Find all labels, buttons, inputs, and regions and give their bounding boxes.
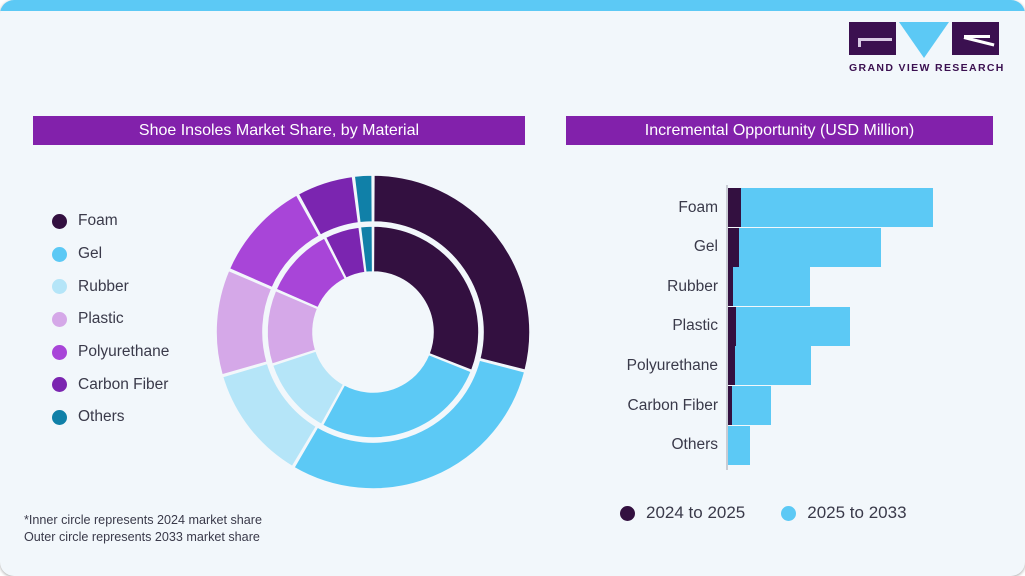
bar-chart-category-label: Rubber: [592, 278, 718, 296]
donut-legend-label: Polyurethane: [78, 343, 169, 361]
bar-chart-category-label: Gel: [592, 238, 718, 256]
bar-segment-2025-to-2033[interactable]: [741, 188, 933, 227]
logo-mark: [849, 22, 999, 56]
bar-chart-row: Gel: [592, 228, 992, 267]
bar-stack: [728, 346, 811, 385]
donut-outer-ring-2033: [216, 175, 530, 489]
donut-footnote: *Inner circle represents 2024 market sha…: [24, 512, 262, 545]
bar-segment-2024-to-2025[interactable]: [728, 346, 735, 385]
bar-chart-row: Plastic: [592, 307, 992, 346]
bar-chart-row: Others: [592, 426, 992, 465]
incremental-opportunity-bar-chart: FoamGelRubberPlasticPolyurethaneCarbon F…: [592, 185, 992, 470]
bar-chart-row: Foam: [592, 188, 992, 227]
donut-legend-label: Foam: [78, 212, 118, 230]
bar-chart-category-label: Others: [592, 436, 718, 454]
bar-chart-category-label: Plastic: [592, 317, 718, 335]
nested-donut-chart: [213, 172, 533, 492]
infographic-canvas: GRAND VIEW RESEARCH Shoe Insoles Market …: [0, 0, 1025, 576]
bar-chart-row: Rubber: [592, 267, 992, 306]
donut-legend-label: Carbon Fiber: [78, 376, 168, 394]
donut-legend-swatch-icon: [52, 345, 67, 360]
donut-legend-item[interactable]: Rubber: [52, 270, 222, 303]
logo-letter-r-icon: [952, 22, 999, 55]
bar-chart-category-label: Polyurethane: [592, 357, 718, 375]
donut-legend-label: Rubber: [78, 278, 129, 296]
bar-legend-swatch-icon: [781, 506, 796, 521]
donut-legend-swatch-icon: [52, 247, 67, 262]
bar-segment-2025-to-2033[interactable]: [735, 346, 811, 385]
donut-legend-swatch-icon: [52, 279, 67, 294]
bar-segment-2025-to-2033[interactable]: [736, 307, 850, 346]
logo-wordmark: GRAND VIEW RESEARCH: [849, 62, 999, 74]
bar-chart-row: Carbon Fiber: [592, 386, 992, 425]
bar-chart-category-label: Foam: [592, 199, 718, 217]
donut-footnote-line-1: *Inner circle represents 2024 market sha…: [24, 512, 262, 529]
bar-stack: [728, 267, 810, 306]
donut-legend-swatch-icon: [52, 410, 67, 425]
donut-legend-label: Gel: [78, 245, 102, 263]
bar-stack: [728, 307, 850, 346]
donut-legend-item[interactable]: Carbon Fiber: [52, 368, 222, 401]
bar-segment-2025-to-2033[interactable]: [733, 267, 810, 306]
bar-legend-label: 2024 to 2025: [646, 503, 745, 523]
bar-legend-item[interactable]: 2025 to 2033: [781, 503, 906, 523]
donut-legend: FoamGelRubberPlasticPolyurethaneCarbon F…: [52, 205, 222, 434]
bar-stack: [728, 426, 750, 465]
bar-chart-legend: 2024 to 20252025 to 2033: [620, 503, 907, 523]
grand-view-research-logo: GRAND VIEW RESEARCH: [849, 22, 999, 76]
donut-legend-swatch-icon: [52, 214, 67, 229]
bar-chart-row: Polyurethane: [592, 346, 992, 385]
donut-legend-item[interactable]: Foam: [52, 205, 222, 238]
donut-legend-swatch-icon: [52, 377, 67, 392]
donut-chart-svg: [213, 172, 533, 492]
bar-legend-swatch-icon: [620, 506, 635, 521]
bar-segment-2025-to-2033[interactable]: [728, 426, 750, 465]
donut-legend-swatch-icon: [52, 312, 67, 327]
donut-legend-item[interactable]: Polyurethane: [52, 336, 222, 369]
top-accent-bar: [0, 0, 1025, 11]
bar-segment-2024-to-2025[interactable]: [728, 307, 736, 346]
donut-legend-label: Plastic: [78, 310, 124, 328]
logo-letter-v-icon: [899, 22, 949, 58]
bar-segment-2025-to-2033[interactable]: [739, 228, 881, 267]
donut-inner-ring-2024: [267, 226, 479, 438]
donut-chart-title: Shoe Insoles Market Share, by Material: [33, 116, 525, 145]
bar-segment-2024-to-2025[interactable]: [728, 188, 741, 227]
donut-legend-item[interactable]: Gel: [52, 238, 222, 271]
logo-letter-g-icon: [849, 22, 896, 55]
bar-stack: [728, 188, 933, 227]
bar-legend-label: 2025 to 2033: [807, 503, 906, 523]
bar-chart-category-label: Carbon Fiber: [592, 397, 718, 415]
bar-segment-2025-to-2033[interactable]: [732, 386, 771, 425]
bar-stack: [728, 228, 881, 267]
bar-legend-item[interactable]: 2024 to 2025: [620, 503, 745, 523]
donut-legend-label: Others: [78, 408, 125, 426]
bar-segment-2024-to-2025[interactable]: [728, 228, 739, 267]
donut-legend-item[interactable]: Others: [52, 401, 222, 434]
bar-stack: [728, 386, 771, 425]
donut-footnote-line-2: Outer circle represents 2033 market shar…: [24, 529, 262, 546]
bar-chart-title: Incremental Opportunity (USD Million): [566, 116, 993, 145]
donut-slice[interactable]: [216, 270, 272, 375]
donut-legend-item[interactable]: Plastic: [52, 303, 222, 336]
